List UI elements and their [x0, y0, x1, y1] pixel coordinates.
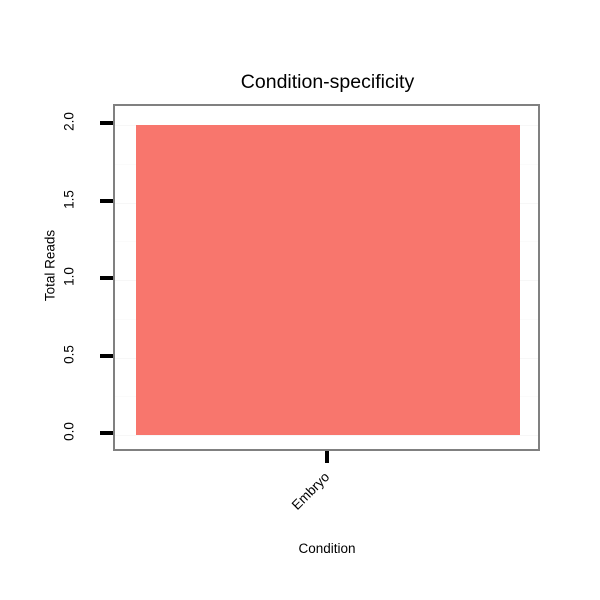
chart-canvas: Condition-specificity 0.00.51.01.52.0 Em… — [0, 0, 600, 600]
y-tick-label: 1.0 — [62, 257, 77, 297]
y-tick-mark — [100, 121, 113, 125]
y-tick-mark — [100, 199, 113, 203]
y-tick-mark — [100, 431, 113, 435]
plot-panel-inner — [115, 106, 538, 449]
chart-title: Condition-specificity — [0, 71, 600, 94]
y-axis-title: Total Reads — [43, 218, 58, 314]
x-axis-title: Condition — [113, 541, 541, 556]
y-tick-label: 0.0 — [62, 412, 77, 452]
x-tick-mark — [325, 451, 329, 463]
y-tick-mark — [100, 276, 113, 280]
y-tick-label: 2.0 — [62, 102, 77, 142]
y-tick-label: 0.5 — [62, 335, 77, 375]
gridline-major — [115, 435, 538, 436]
bar-embryo[interactable] — [136, 125, 520, 435]
plot-panel — [113, 104, 540, 451]
y-tick-mark — [100, 354, 113, 358]
y-tick-label: 1.5 — [62, 180, 77, 220]
